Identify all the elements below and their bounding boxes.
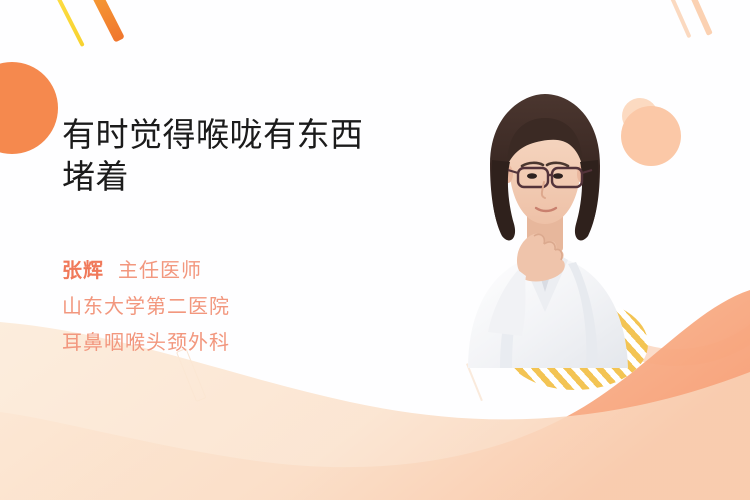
doctor-intro-card: 有时觉得喉咙有东西堵着 张辉 主任医师 山东大学第二医院 耳鼻咽喉头颈外科 <box>0 0 750 500</box>
pale-stripe-icon-b <box>678 0 713 36</box>
doctor-identity: 张辉 主任医师 <box>62 254 412 283</box>
orange-circle-decor <box>0 62 58 154</box>
doctor-name: 张辉 <box>62 254 104 283</box>
doctor-hospital: 山东大学第二医院 <box>62 290 412 319</box>
outline-stripe-icon-a <box>176 348 206 402</box>
page-title: 有时觉得喉咙有东西堵着 <box>62 114 392 198</box>
doctor-portrait <box>430 78 660 368</box>
doctor-department: 耳鼻咽喉头颈外科 <box>62 326 412 355</box>
text-block: 有时觉得喉咙有东西堵着 张辉 主任医师 山东大学第二医院 耳鼻咽喉头颈外科 <box>62 114 412 355</box>
orange-stripe-icon <box>76 0 125 43</box>
outline-stripe-icon-b <box>466 363 483 401</box>
yellow-stripe-icon <box>44 0 85 47</box>
pale-stripe-icon-a <box>661 0 691 38</box>
doctor-rank: 主任医师 <box>118 254 202 283</box>
